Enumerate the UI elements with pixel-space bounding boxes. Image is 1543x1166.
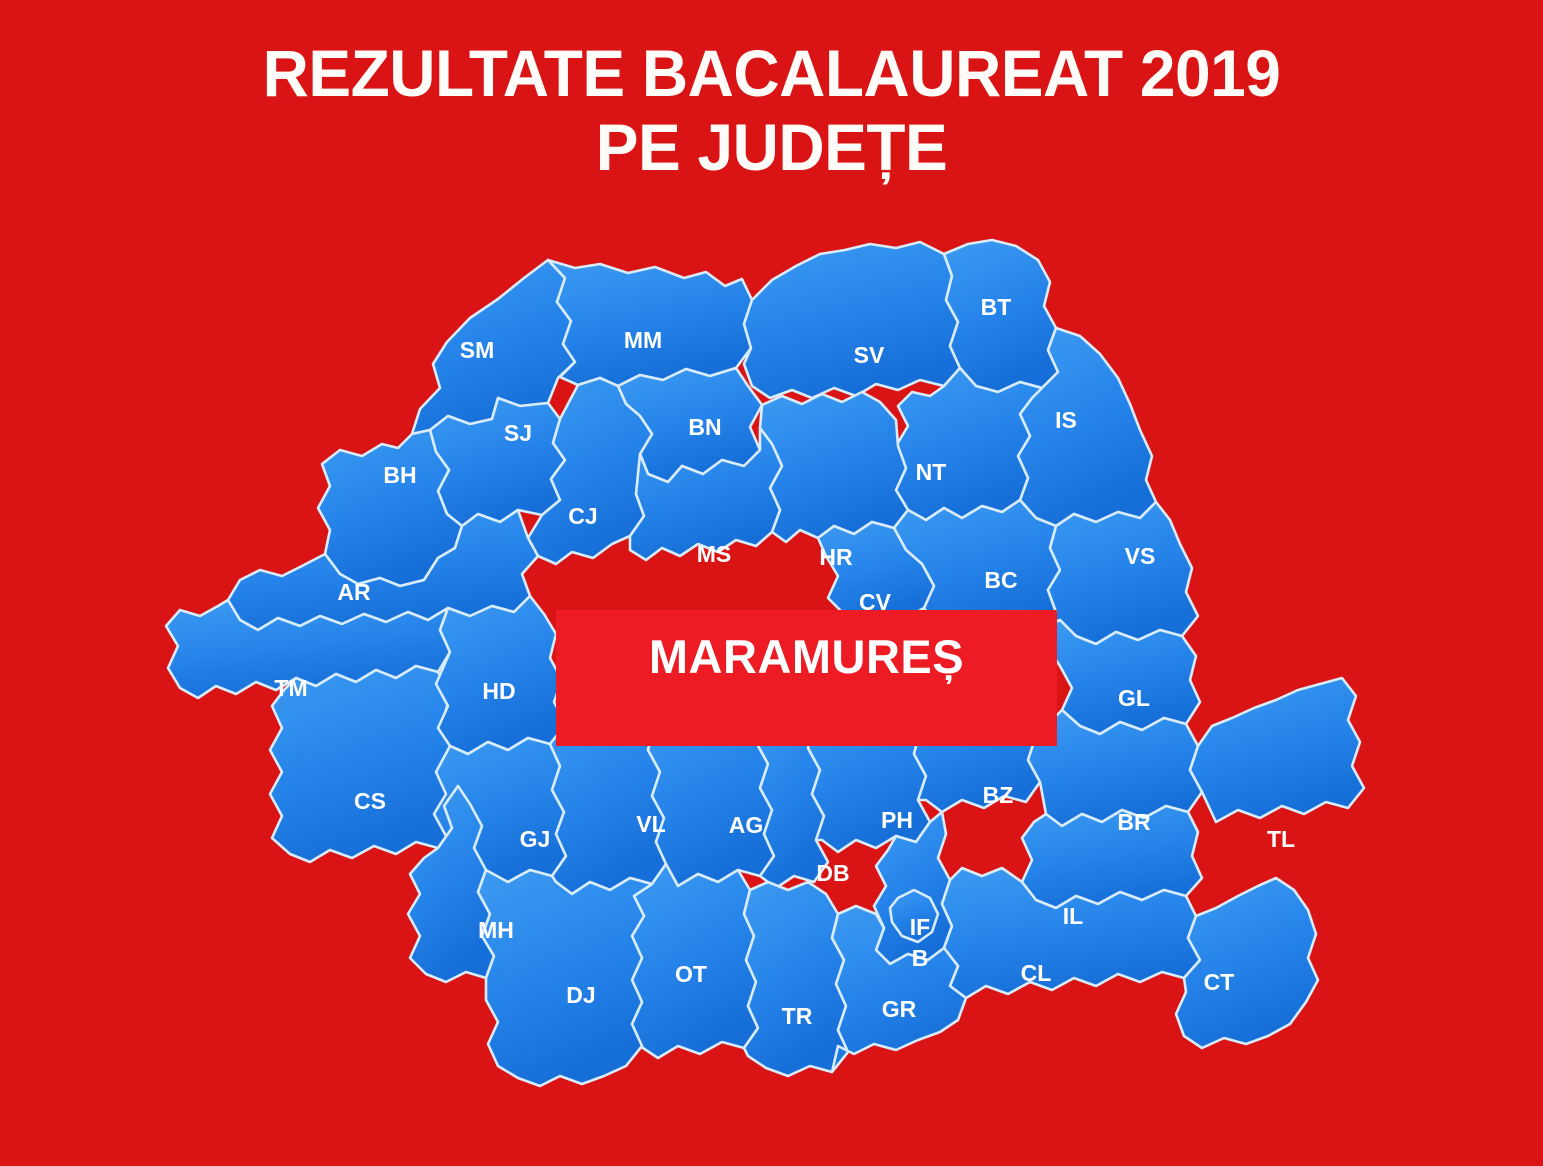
county-label-TR: TR [782, 1003, 813, 1029]
county-label-CS: CS [354, 788, 386, 814]
county-label-B: B [912, 945, 929, 971]
county-label-CL: CL [1021, 960, 1052, 986]
county-MM[interactable] [548, 260, 752, 386]
county-label-CJ: CJ [568, 503, 597, 529]
county-label-HD: HD [482, 678, 515, 704]
county-label-TL: TL [1267, 826, 1295, 852]
county-label-GR: GR [882, 996, 917, 1022]
county-TL[interactable] [1190, 678, 1364, 822]
county-label-IL: IL [1063, 903, 1083, 929]
county-label-NT: NT [916, 459, 947, 485]
county-label-GJ: GJ [520, 826, 551, 852]
county-label-OT: OT [675, 961, 707, 987]
county-DJ[interactable] [478, 870, 652, 1086]
county-label-TM: TM [274, 675, 307, 701]
county-HD[interactable] [436, 596, 566, 754]
title-line-1: REZULTATE BACALAUREAT 2019 [23, 36, 1520, 110]
county-label-SM: SM [460, 337, 495, 363]
county-SV[interactable] [744, 242, 960, 398]
county-label-VS: VS [1125, 543, 1156, 569]
county-label-PH: PH [881, 807, 913, 833]
county-label-HR: HR [819, 544, 853, 570]
county-label-IS: IS [1055, 407, 1077, 433]
county-label-DJ: DJ [566, 982, 595, 1008]
county-label-IF: IF [910, 914, 930, 940]
county-TR[interactable] [744, 882, 848, 1076]
county-label-MM: MM [624, 327, 662, 353]
highlight-county-label: MARAMUREȘ [649, 629, 964, 684]
county-label-MS: MS [697, 541, 732, 567]
county-label-BC: BC [984, 567, 1017, 593]
county-label-MH: MH [478, 917, 514, 943]
county-label-BZ: BZ [983, 782, 1014, 808]
county-label-BH: BH [383, 462, 416, 488]
county-label-BR: BR [1117, 809, 1151, 835]
highlight-county-box: MARAMUREȘ [556, 610, 1057, 746]
county-label-SJ: SJ [504, 420, 532, 446]
county-label-SV: SV [854, 342, 885, 368]
county-label-BT: BT [981, 294, 1012, 320]
county-label-AR: AR [337, 579, 371, 605]
county-label-GL: GL [1118, 685, 1150, 711]
county-label-VL: VL [636, 811, 665, 837]
title-line-2: PE JUDEȚE [23, 110, 1520, 184]
county-label-CT: CT [1204, 969, 1235, 995]
county-label-DB: DB [816, 860, 849, 886]
county-label-BN: BN [688, 414, 721, 440]
county-label-AG: AG [729, 812, 764, 838]
page-title: REZULTATE BACALAUREAT 2019 PE JUDEȚE [0, 36, 1543, 184]
county-CT[interactable] [1176, 878, 1318, 1048]
county-NT[interactable] [896, 368, 1042, 520]
county-SJ[interactable] [430, 398, 565, 526]
